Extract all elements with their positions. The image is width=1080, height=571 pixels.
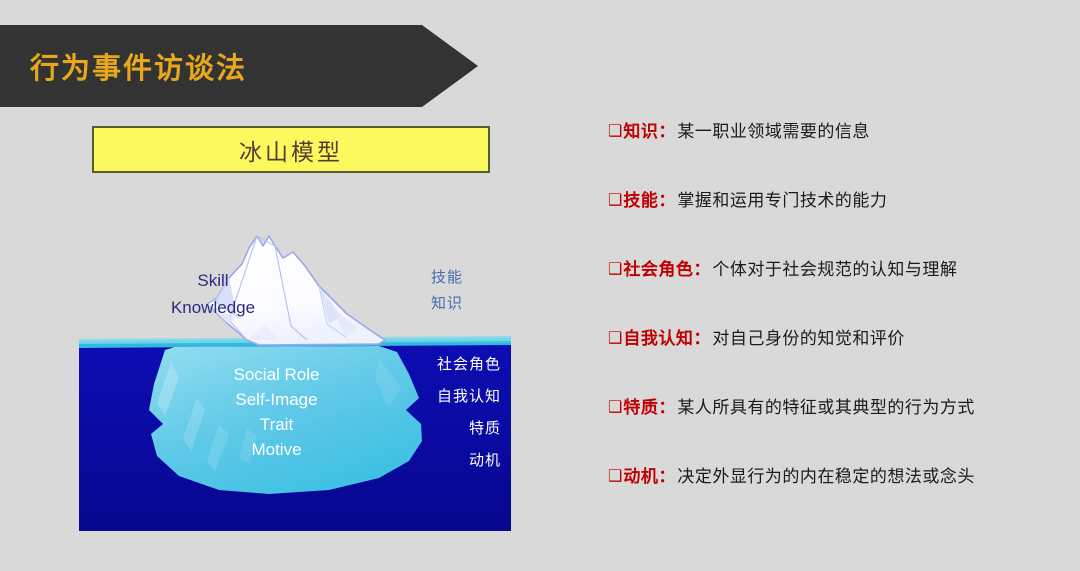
square-bullet-icon: ❑ — [608, 122, 622, 142]
list-item: ❑ 自我认知 ： 对自己身份的知觉和评价 — [608, 329, 1058, 398]
bullet-description: 某一职业领域需要的信息 — [677, 122, 870, 142]
bullet-separator: ： — [658, 467, 675, 487]
list-item: ❑ 动机 ： 决定外显行为的内在稳定的想法或念头 — [608, 467, 1058, 536]
iceberg-submerged — [149, 346, 422, 494]
bullet-description: 对自己身份的知觉和评价 — [712, 329, 905, 349]
competency-definition-list: ❑ 知识 ： 某一职业领域需要的信息 ❑ 技能 ： 掌握和运用专门技术的能力 ❑… — [608, 122, 1058, 536]
square-bullet-icon: ❑ — [608, 191, 622, 211]
bullet-description: 某人所具有的特征或其典型的行为方式 — [677, 398, 975, 418]
bullet-separator: ： — [658, 398, 675, 418]
list-item: ❑ 知识 ： 某一职业领域需要的信息 — [608, 122, 1058, 191]
model-title-label: 冰山模型 — [239, 133, 343, 167]
bullet-separator: ： — [658, 191, 675, 211]
square-bullet-icon: ❑ — [608, 260, 622, 280]
iceberg-tip — [207, 236, 385, 345]
bullet-separator: ： — [693, 260, 710, 280]
bullet-term: 动机 — [623, 467, 658, 487]
bullet-term: 社会角色 — [623, 260, 693, 280]
bullet-term: 特质 — [623, 398, 658, 418]
list-item: ❑ 技能 ： 掌握和运用专门技术的能力 — [608, 191, 1058, 260]
square-bullet-icon: ❑ — [608, 467, 622, 487]
bullet-separator: ： — [658, 122, 675, 142]
iceberg-diagram: Skill Knowledge 技能 知识 Social Role Self-I… — [79, 228, 511, 531]
bullet-term: 自我认知 — [623, 329, 693, 349]
model-title-box: 冰山模型 — [92, 126, 490, 173]
bullet-separator: ： — [693, 329, 710, 349]
bullet-description: 个体对于社会规范的认知与理解 — [712, 260, 957, 280]
title-banner: 行为事件访谈法 — [0, 25, 478, 107]
square-bullet-icon: ❑ — [608, 329, 622, 349]
page-title: 行为事件访谈法 — [30, 45, 247, 87]
list-item: ❑ 特质 ： 某人所具有的特征或其典型的行为方式 — [608, 398, 1058, 467]
list-item: ❑ 社会角色 ： 个体对于社会规范的认知与理解 — [608, 260, 1058, 329]
square-bullet-icon: ❑ — [608, 398, 622, 418]
bullet-term: 知识 — [623, 122, 658, 142]
iceberg-graphic — [79, 228, 511, 531]
bullet-description: 决定外显行为的内在稳定的想法或念头 — [677, 467, 975, 487]
bullet-term: 技能 — [623, 191, 658, 211]
bullet-description: 掌握和运用专门技术的能力 — [677, 191, 887, 211]
